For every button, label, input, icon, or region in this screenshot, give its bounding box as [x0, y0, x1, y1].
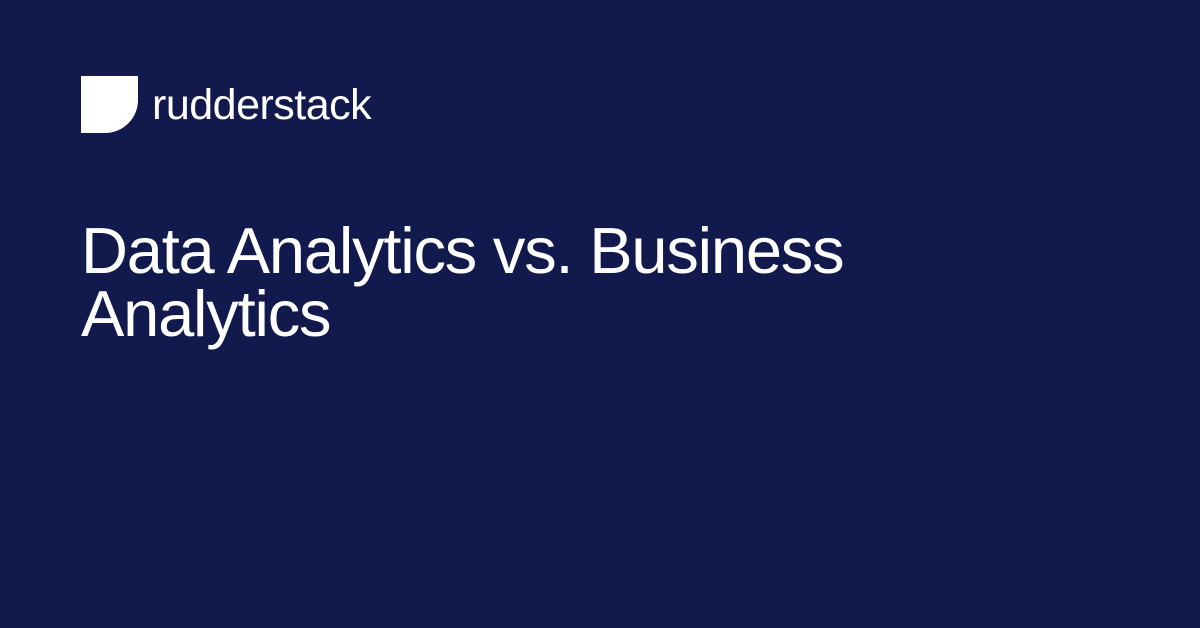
og-share-card: rudderstack Data Analytics vs. Business … — [0, 0, 1200, 628]
page-title: Data Analytics vs. Business Analytics — [81, 219, 1081, 345]
brand-lockup[interactable]: rudderstack — [81, 76, 371, 133]
brand-wordmark: rudderstack — [152, 84, 371, 127]
rudderstack-logo-icon — [81, 76, 138, 133]
